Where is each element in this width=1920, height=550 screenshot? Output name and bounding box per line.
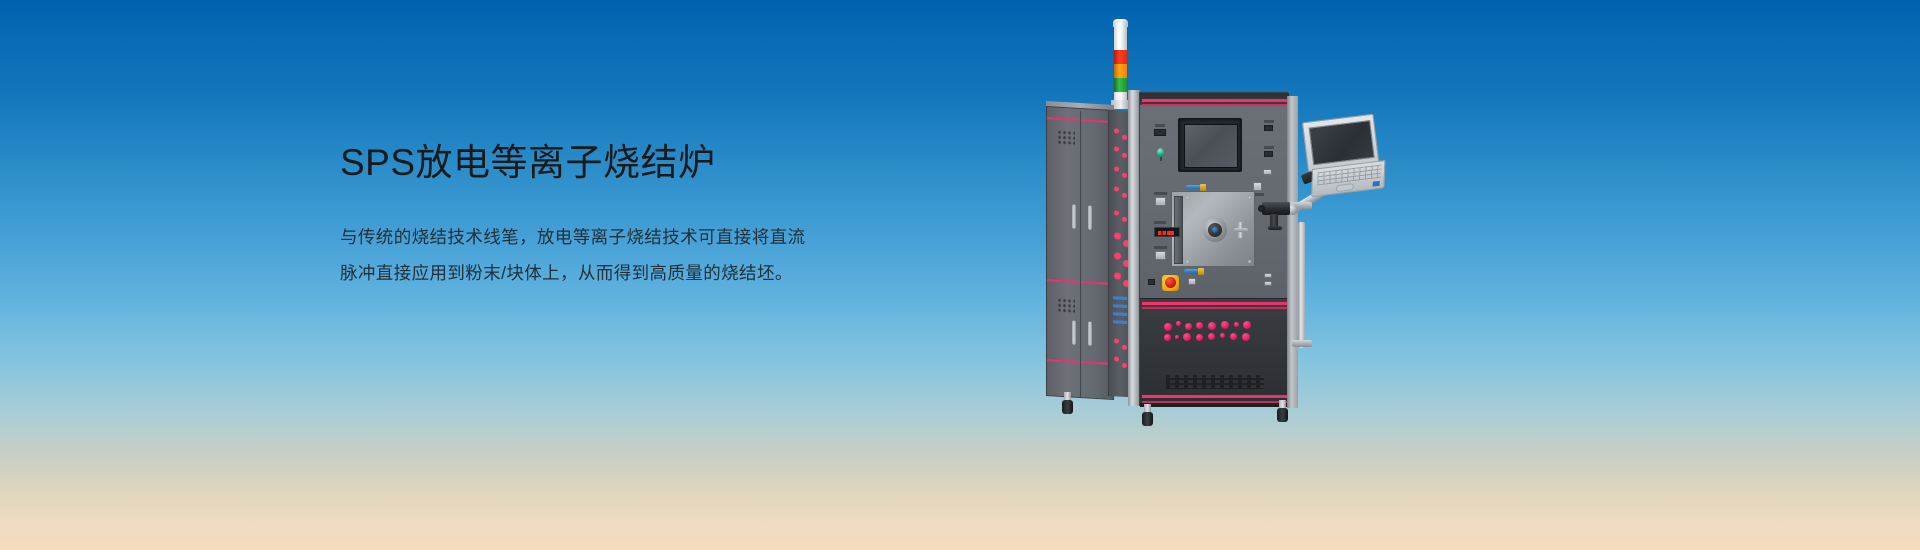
laptop-keys[interactable] [1317, 165, 1381, 186]
panel-button[interactable] [1253, 182, 1262, 191]
panel-button[interactable] [1264, 273, 1272, 278]
panel-switch[interactable] [1148, 279, 1155, 285]
panel-button[interactable] [1155, 251, 1166, 260]
cooling-hole [1185, 323, 1192, 330]
vacuum-chamber-door[interactable] [1171, 191, 1255, 267]
status-indicator-dot [1122, 217, 1127, 222]
chamber-screw [1248, 260, 1251, 263]
panel-switch[interactable] [1264, 151, 1273, 157]
banner-description: 与传统的烧结技术线笔，放电等离子烧结技术可直接将直流 脉冲直接应用到粉末/块体上… [340, 220, 840, 292]
articulated-support-arm [1298, 222, 1305, 348]
cabinet-door-handle[interactable] [1088, 321, 1092, 345]
laptop-display[interactable] [1309, 120, 1375, 165]
cabinet-accent-stripe [1047, 279, 1115, 285]
caster-tire [1062, 400, 1073, 414]
hmi-display[interactable] [1184, 124, 1238, 168]
status-indicator-dot [1114, 232, 1121, 239]
chamber-bottom-clamp[interactable] [1198, 268, 1204, 275]
cooling-hole [1208, 322, 1216, 330]
chamber-top-lever[interactable] [1186, 185, 1201, 189]
control-cabinet [1046, 106, 1114, 400]
status-indicator-dot [1114, 210, 1119, 215]
selector-knob[interactable] [1157, 148, 1164, 157]
status-indicator-dot [1114, 338, 1119, 343]
cooling-hole [1196, 334, 1203, 341]
chamber-viewport [1203, 218, 1227, 242]
panel-button[interactable] [1264, 281, 1272, 286]
chamber-screw [1186, 196, 1189, 199]
cabinet-vent [1057, 298, 1075, 313]
digital-readout [1154, 227, 1180, 237]
cabinet-door-handle[interactable] [1088, 205, 1092, 229]
status-indicator-dot [1122, 193, 1127, 198]
cooling-hole [1176, 321, 1181, 326]
status-indicator-dot [1114, 272, 1121, 279]
status-indicator-dot [1114, 356, 1119, 361]
status-indicator-dot [1122, 153, 1127, 158]
chamber-bottom-lever[interactable] [1184, 269, 1199, 273]
panel-label [1113, 304, 1127, 308]
chamber-viewport-reflection [1212, 227, 1218, 233]
cabinet-door-handle[interactable] [1072, 321, 1076, 345]
status-indicator-dot [1122, 363, 1127, 368]
status-indicator-dot [1114, 146, 1119, 151]
laptop-badge [1373, 181, 1380, 187]
panel-switch[interactable] [1154, 129, 1166, 136]
cooling-hole [1175, 335, 1179, 339]
signal-lamp-green-icon [1114, 78, 1127, 92]
front-accent-stripe [1142, 99, 1287, 102]
status-indicator-dot [1122, 135, 1127, 140]
description-line-2: 脉冲直接应用到粉末/块体上，从而得到高质量的烧结坯。 [340, 256, 840, 292]
cabinet-door-seam [1080, 111, 1081, 397]
panel-label [1154, 221, 1166, 224]
camera-arm [1268, 226, 1282, 230]
chamber-top-clamp[interactable] [1200, 184, 1206, 191]
chamber-screw [1186, 260, 1189, 263]
emergency-stop-button[interactable] [1162, 275, 1179, 291]
caster-tire [1142, 412, 1153, 426]
status-indicator-dot [1114, 166, 1119, 171]
lower-access-door[interactable] [1140, 298, 1289, 407]
furnace-front-panel [1139, 92, 1288, 406]
panel-button[interactable] [1155, 197, 1166, 206]
cooling-hole [1220, 333, 1225, 338]
status-indicator-dot [1122, 345, 1127, 350]
lower-door-accent-stripe [1142, 307, 1287, 309]
status-indicator-dot [1114, 186, 1119, 191]
emergency-stop-cap[interactable] [1165, 277, 1176, 288]
hero-banner: SPS放电等离子烧结炉 与传统的烧结技术线笔，放电等离子烧结技术可直接将直流 脉… [0, 0, 1920, 550]
cooling-hole [1243, 321, 1251, 329]
lower-door-accent-stripe [1142, 302, 1287, 305]
chamber-door-latch[interactable] [1234, 228, 1248, 232]
cooling-hole [1230, 333, 1237, 340]
cabinet-door-handle[interactable] [1072, 205, 1076, 229]
cooling-hole [1164, 323, 1172, 331]
cabinet-accent-stripe [1047, 117, 1115, 123]
cabinet-vent [1057, 130, 1075, 147]
caster-wheel [1062, 392, 1073, 414]
cooling-hole [1208, 333, 1215, 340]
frame-extrusion-right [1287, 96, 1298, 408]
page-title: SPS放电等离子烧结炉 [340, 140, 960, 186]
panel-label [1113, 296, 1127, 300]
cooling-hole [1183, 333, 1191, 341]
description-line-1: 与传统的烧结技术线笔，放电等离子烧结技术可直接将直流 [340, 220, 840, 256]
panel-label [1113, 312, 1127, 316]
panel-label [1155, 124, 1165, 127]
panel-label [1154, 246, 1167, 249]
chamber-viewport-glass [1208, 223, 1222, 237]
base-bar [1140, 403, 1289, 407]
cooling-hole [1164, 334, 1171, 341]
front-accent-stripe [1142, 104, 1287, 106]
panel-label [1113, 320, 1127, 324]
caster-tire [1277, 408, 1288, 422]
panel-label [1264, 146, 1274, 149]
laptop-trackpad[interactable] [1336, 183, 1354, 192]
banner-text-block: SPS放电等离子烧结炉 与传统的烧结技术线笔，放电等离子烧结技术可直接将直流 脉… [340, 140, 960, 292]
cooling-hole [1242, 333, 1250, 341]
panel-label [1264, 120, 1274, 123]
caster-wheel [1142, 404, 1153, 426]
lower-door-accent-stripe [1142, 395, 1287, 398]
cooling-hole [1234, 322, 1239, 327]
support-arm-base [1292, 340, 1312, 347]
cooling-hole [1221, 321, 1229, 329]
status-indicator-dot [1114, 128, 1119, 133]
cabinet-accent-stripe [1047, 359, 1115, 365]
status-indicator-dot [1122, 173, 1127, 178]
hmi-touchscreen[interactable] [1178, 118, 1242, 172]
panel-button[interactable] [1188, 278, 1196, 285]
cooling-hole-array [1164, 319, 1262, 341]
camera-lens-icon [1258, 205, 1265, 212]
panel-switch[interactable] [1264, 125, 1273, 131]
caster-wheel [1277, 400, 1288, 422]
chamber-screw [1248, 196, 1251, 199]
cooling-hole [1196, 322, 1203, 329]
panel-label [1154, 192, 1167, 195]
signal-lamp-red-icon [1114, 50, 1127, 64]
signal-lamp-amber-icon [1114, 64, 1127, 78]
bottom-vent-louver [1166, 375, 1264, 389]
status-indicator-dot [1114, 252, 1121, 259]
product-photo-sps-furnace [1040, 22, 1360, 442]
panel-button[interactable] [1263, 169, 1272, 175]
